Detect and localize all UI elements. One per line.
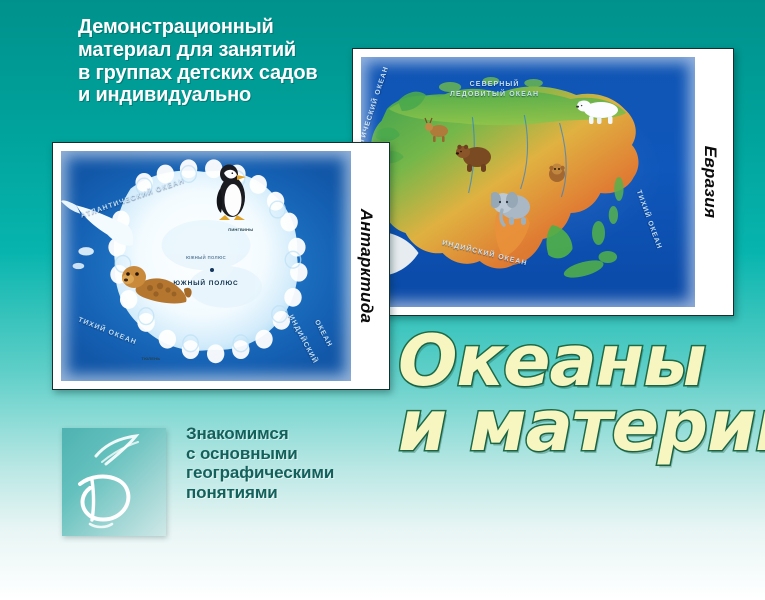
eurasia-label-strip: Евразия <box>695 57 725 307</box>
main-title-line-2: и материки <box>398 397 758 456</box>
publisher-monogram-icon <box>62 428 166 536</box>
penguin-caption: ПИНГВИНЫ <box>228 227 253 232</box>
poster-root: Демонстрационный материал для занятий в … <box>0 0 765 600</box>
headline-line-1: Демонстрационный <box>78 16 368 39</box>
card-eurasia[interactable]: СЕВЕРНЫЙ ЛЕДОВИТЫЙ ОКЕАН АТЛАНТИЧЕСКИЙ О… <box>352 48 734 316</box>
penguin-icon <box>212 163 252 221</box>
antarctica-label: Антарктида <box>356 209 376 324</box>
monkey-icon <box>545 160 569 184</box>
publisher-logo[interactable] <box>62 428 166 536</box>
eurasia-label: Евразия <box>700 146 720 219</box>
subtitle-line-4: понятиями <box>186 483 386 503</box>
headline-line-2: материал для занятий <box>78 39 368 62</box>
deer-icon <box>424 117 452 143</box>
card-antarctica[interactable]: ЮЖНЫЙ ПОЛЮС ЮЖНЫЙ ПОЛЮС АТЛАНТИЧЕСКИЙ ОК… <box>52 142 390 390</box>
label-arctic-ocean: СЕВЕРНЫЙ ЛЕДОВИТЫЙ ОКЕАН <box>450 80 540 101</box>
antarctica-label-strip: Антарктида <box>351 151 381 381</box>
subtitle-line-2: с основными <box>186 444 386 464</box>
seal-icon <box>116 261 192 309</box>
subtitle-block: Знакомимся с основными географическими п… <box>186 424 386 503</box>
headline-line-4: и индивидуально <box>78 84 368 107</box>
elephant-icon <box>491 187 537 227</box>
brown-bear-icon <box>455 137 495 173</box>
main-title-block: Океаны и материки <box>398 332 758 456</box>
eurasia-map: СЕВЕРНЫЙ ЛЕДОВИТЫЙ ОКЕАН АТЛАНТИЧЕСКИЙ О… <box>361 57 695 307</box>
pole-sublabel: ЮЖНЫЙ ПОЛЮС <box>186 255 226 260</box>
headline-line-3: в группах детских садов <box>78 62 368 85</box>
main-title-line-1: Океаны <box>398 332 758 391</box>
seal-caption: ТЮЛЕНЬ <box>141 356 160 361</box>
polar-bear-icon <box>575 92 625 126</box>
subtitle-line-3: географическими <box>186 463 386 483</box>
headline-block: Демонстрационный материал для занятий в … <box>78 16 368 107</box>
subtitle-line-1: Знакомимся <box>186 424 386 444</box>
antarctica-map: ЮЖНЫЙ ПОЛЮС ЮЖНЫЙ ПОЛЮС АТЛАНТИЧЕСКИЙ ОК… <box>61 151 351 381</box>
